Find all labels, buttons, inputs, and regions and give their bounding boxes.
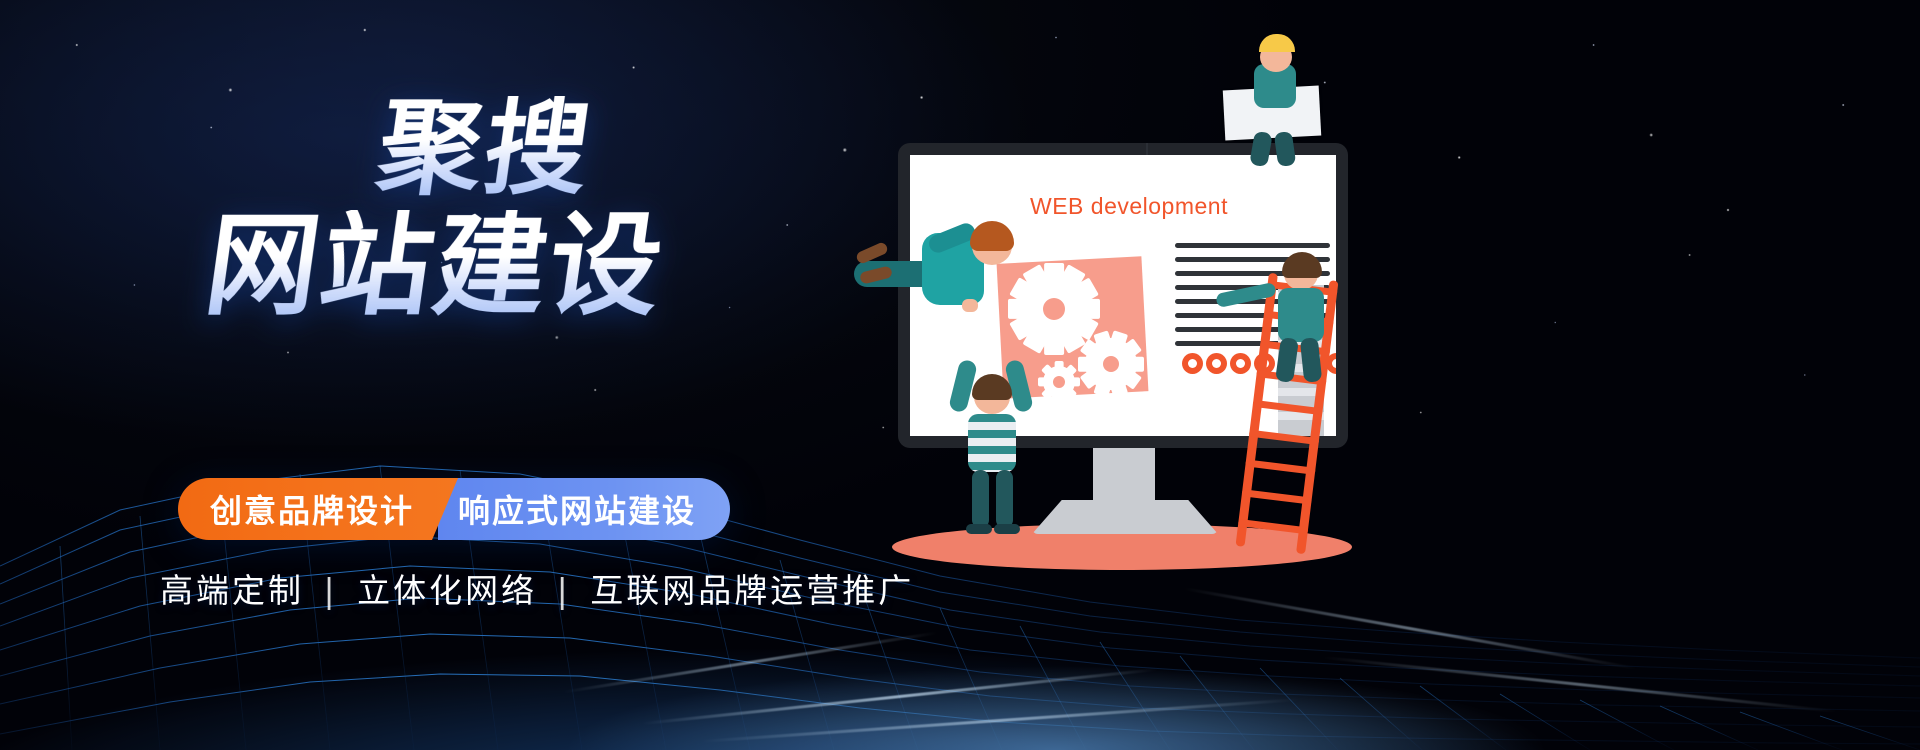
hair — [970, 221, 1014, 251]
leg — [972, 470, 989, 528]
headline-line-1: 聚搜 — [0, 96, 867, 200]
headline-block: 聚搜 网站建设 — [0, 96, 860, 322]
ladder-rung — [1238, 519, 1308, 534]
tagline: 高端定制 | 立体化网络 | 互联网品牌运营推广 — [160, 564, 914, 612]
ladder-rung — [1242, 489, 1312, 504]
mini-gear-icon — [1206, 353, 1227, 374]
pill-label: 响应式网站建设 — [458, 486, 696, 532]
worker-on-ladder — [1238, 248, 1348, 378]
ladder-rung — [1249, 430, 1319, 445]
shoe — [966, 524, 992, 534]
tagline-separator: | — [551, 571, 577, 610]
monitor-stand-neck — [1093, 448, 1155, 508]
worker-hanging-left — [854, 225, 1024, 335]
ladder-rung — [1245, 459, 1315, 474]
gear-small — [1038, 361, 1080, 403]
ladder-rung — [1253, 400, 1323, 415]
leg — [1275, 337, 1299, 383]
tagline-item-2: 立体化网络 — [357, 571, 537, 610]
torso-striped — [968, 414, 1016, 472]
mini-gear-icon — [1182, 353, 1203, 374]
screen-title: WEB development — [1030, 193, 1228, 220]
leg — [996, 470, 1013, 528]
leg — [1300, 337, 1323, 383]
hair — [972, 374, 1012, 400]
pill-label: 创意品牌设计 — [210, 486, 414, 532]
tagline-separator: | — [318, 571, 344, 610]
safety-helmet-icon — [1259, 34, 1295, 52]
hand — [962, 299, 978, 312]
worker-lifting-below-screen — [952, 358, 1042, 538]
pill-creative-brand-design[interactable]: 创意品牌设计 — [178, 478, 458, 540]
worker-on-top-with-blueprint — [1218, 36, 1338, 166]
feature-pill-group: 创意品牌设计 响应式网站建设 — [178, 478, 730, 540]
headline-line-2: 网站建设 — [0, 210, 868, 322]
pill-responsive-web-build[interactable]: 响应式网站建设 — [438, 478, 730, 540]
hair — [1282, 252, 1322, 278]
gear-medium — [1078, 331, 1144, 397]
web-development-illustration: WEB development — [840, 0, 1460, 750]
torso — [1278, 288, 1324, 342]
tagline-item-1: 高端定制 — [160, 571, 304, 610]
shoe — [994, 524, 1020, 534]
hero-banner: 聚搜 网站建设 创意品牌设计 响应式网站建设 高端定制 | 立体化网络 | 互联… — [0, 0, 1920, 750]
